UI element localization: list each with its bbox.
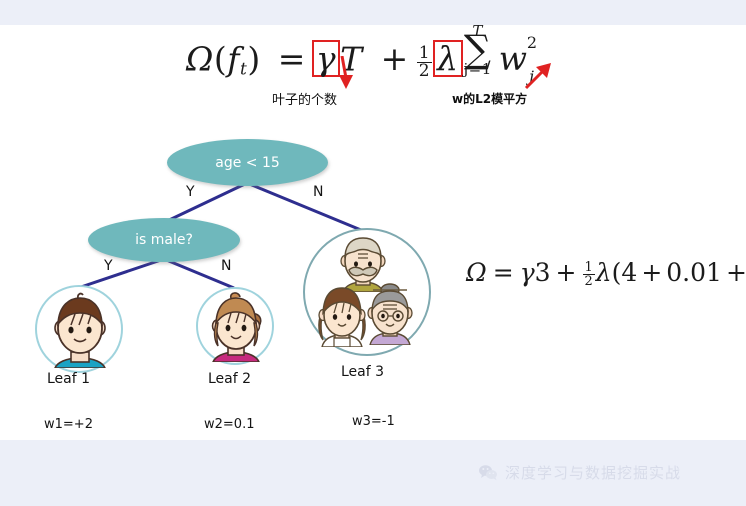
tree-node-is-male[interactable]: is male? xyxy=(88,218,240,262)
leaf-2-label: Leaf 2 xyxy=(208,371,251,387)
weight-label-w1: w1=+2 xyxy=(44,417,93,432)
fraction-numerator-right: 1 xyxy=(583,261,595,274)
leaf-count-value: 3 xyxy=(535,258,551,287)
plus-sign-right-1: + xyxy=(556,258,577,287)
tree-node-root[interactable]: age < 15 xyxy=(167,139,328,186)
omega-symbol-right: Ω xyxy=(466,258,487,287)
weight-label-w3: w3=-1 xyxy=(352,414,395,429)
omega-evaluation-formula: Ω=γ3+12λ(4+0.01+1) xyxy=(466,258,746,288)
boy-avatar-icon xyxy=(45,292,115,368)
wechat-icon xyxy=(478,464,498,481)
branch-label-root-yes: Y xyxy=(186,184,195,200)
branch-label-ismale-yes: Y xyxy=(104,258,113,274)
watermark-text: 深度学习与数据挖掘实战 xyxy=(505,462,681,483)
slide-canvas: Ω(ft) =γT +12λT∑j=1w2j 叶子的个数 w的L2模平方 age… xyxy=(0,0,746,506)
girl-avatar-icon xyxy=(203,292,269,362)
plus-sign-right-2: + xyxy=(641,258,662,287)
fraction-denominator-right: 2 xyxy=(583,274,595,288)
branch-label-root-no: N xyxy=(313,184,323,200)
grandma-avatar-icon xyxy=(361,283,419,345)
leaf-1-label: Leaf 1 xyxy=(47,371,90,387)
w2-squared-value: 0.01 xyxy=(666,258,722,287)
weight-label-w2: w2=0.1 xyxy=(204,417,254,432)
lambda-symbol-right: λ xyxy=(596,258,612,287)
tree-node-is-male-label: is male? xyxy=(135,232,193,248)
equals-sign-right: = xyxy=(493,258,514,287)
leaf-3-label: Leaf 3 xyxy=(341,364,384,380)
plus-sign-right-3: + xyxy=(726,258,746,287)
tree-node-root-label: age < 15 xyxy=(215,155,280,171)
open-paren-right: ( xyxy=(612,258,622,287)
w1-squared-value: 4 xyxy=(621,258,637,287)
gamma-symbol-right: γ xyxy=(520,258,535,287)
branch-label-ismale-no: N xyxy=(221,258,231,274)
one-half-fraction-right: 12 xyxy=(583,261,595,289)
watermark: 深度学习与数据挖掘实战 xyxy=(478,462,681,483)
